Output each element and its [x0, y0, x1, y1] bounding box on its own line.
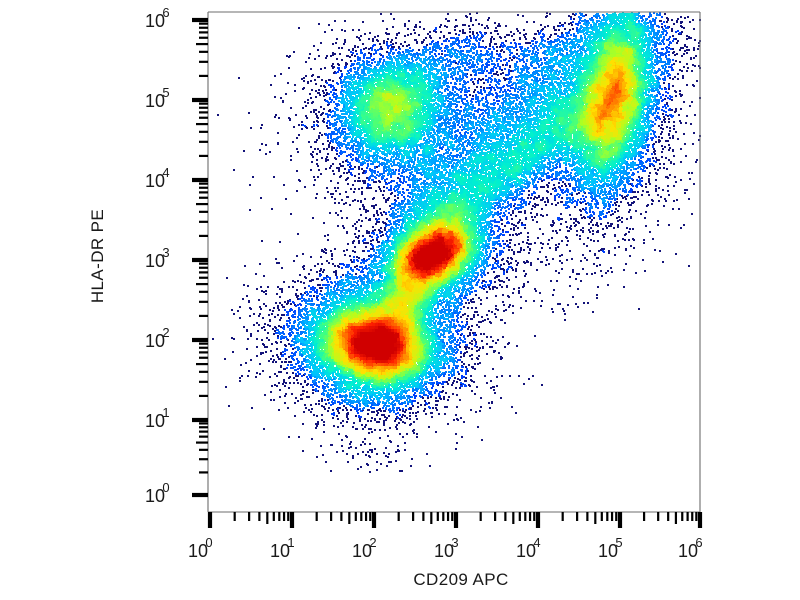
x-tick-label-3-exponent: 3: [451, 535, 458, 550]
x-tick-label-2-exponent: 2: [369, 535, 376, 550]
x-axis-title: CD209 APC: [413, 570, 508, 589]
x-tick-label-6-exponent: 6: [695, 535, 702, 550]
y-tick-label-6-exponent: 6: [162, 5, 169, 20]
x-tick-label-4-exponent: 4: [533, 535, 540, 550]
x-tick-label-0-exponent: 0: [205, 535, 212, 550]
y-tick-label-4-exponent: 4: [162, 165, 169, 180]
y-tick-label-1-exponent: 1: [162, 405, 169, 420]
y-tick-label-2-exponent: 2: [162, 325, 169, 340]
flow-cytometry-plot: 1001011021031041051061001011021031041051…: [0, 0, 800, 600]
x-tick-label-5-exponent: 5: [615, 535, 622, 550]
x-tick-label-1-exponent: 1: [287, 535, 294, 550]
density-point-group: [659, 12, 661, 16]
y-tick-label-5-exponent: 5: [162, 85, 169, 100]
y-tick-label-0-exponent: 0: [162, 480, 169, 495]
y-axis-title: HLA-DR PE: [88, 209, 107, 303]
y-tick-label-3-exponent: 3: [162, 245, 169, 260]
